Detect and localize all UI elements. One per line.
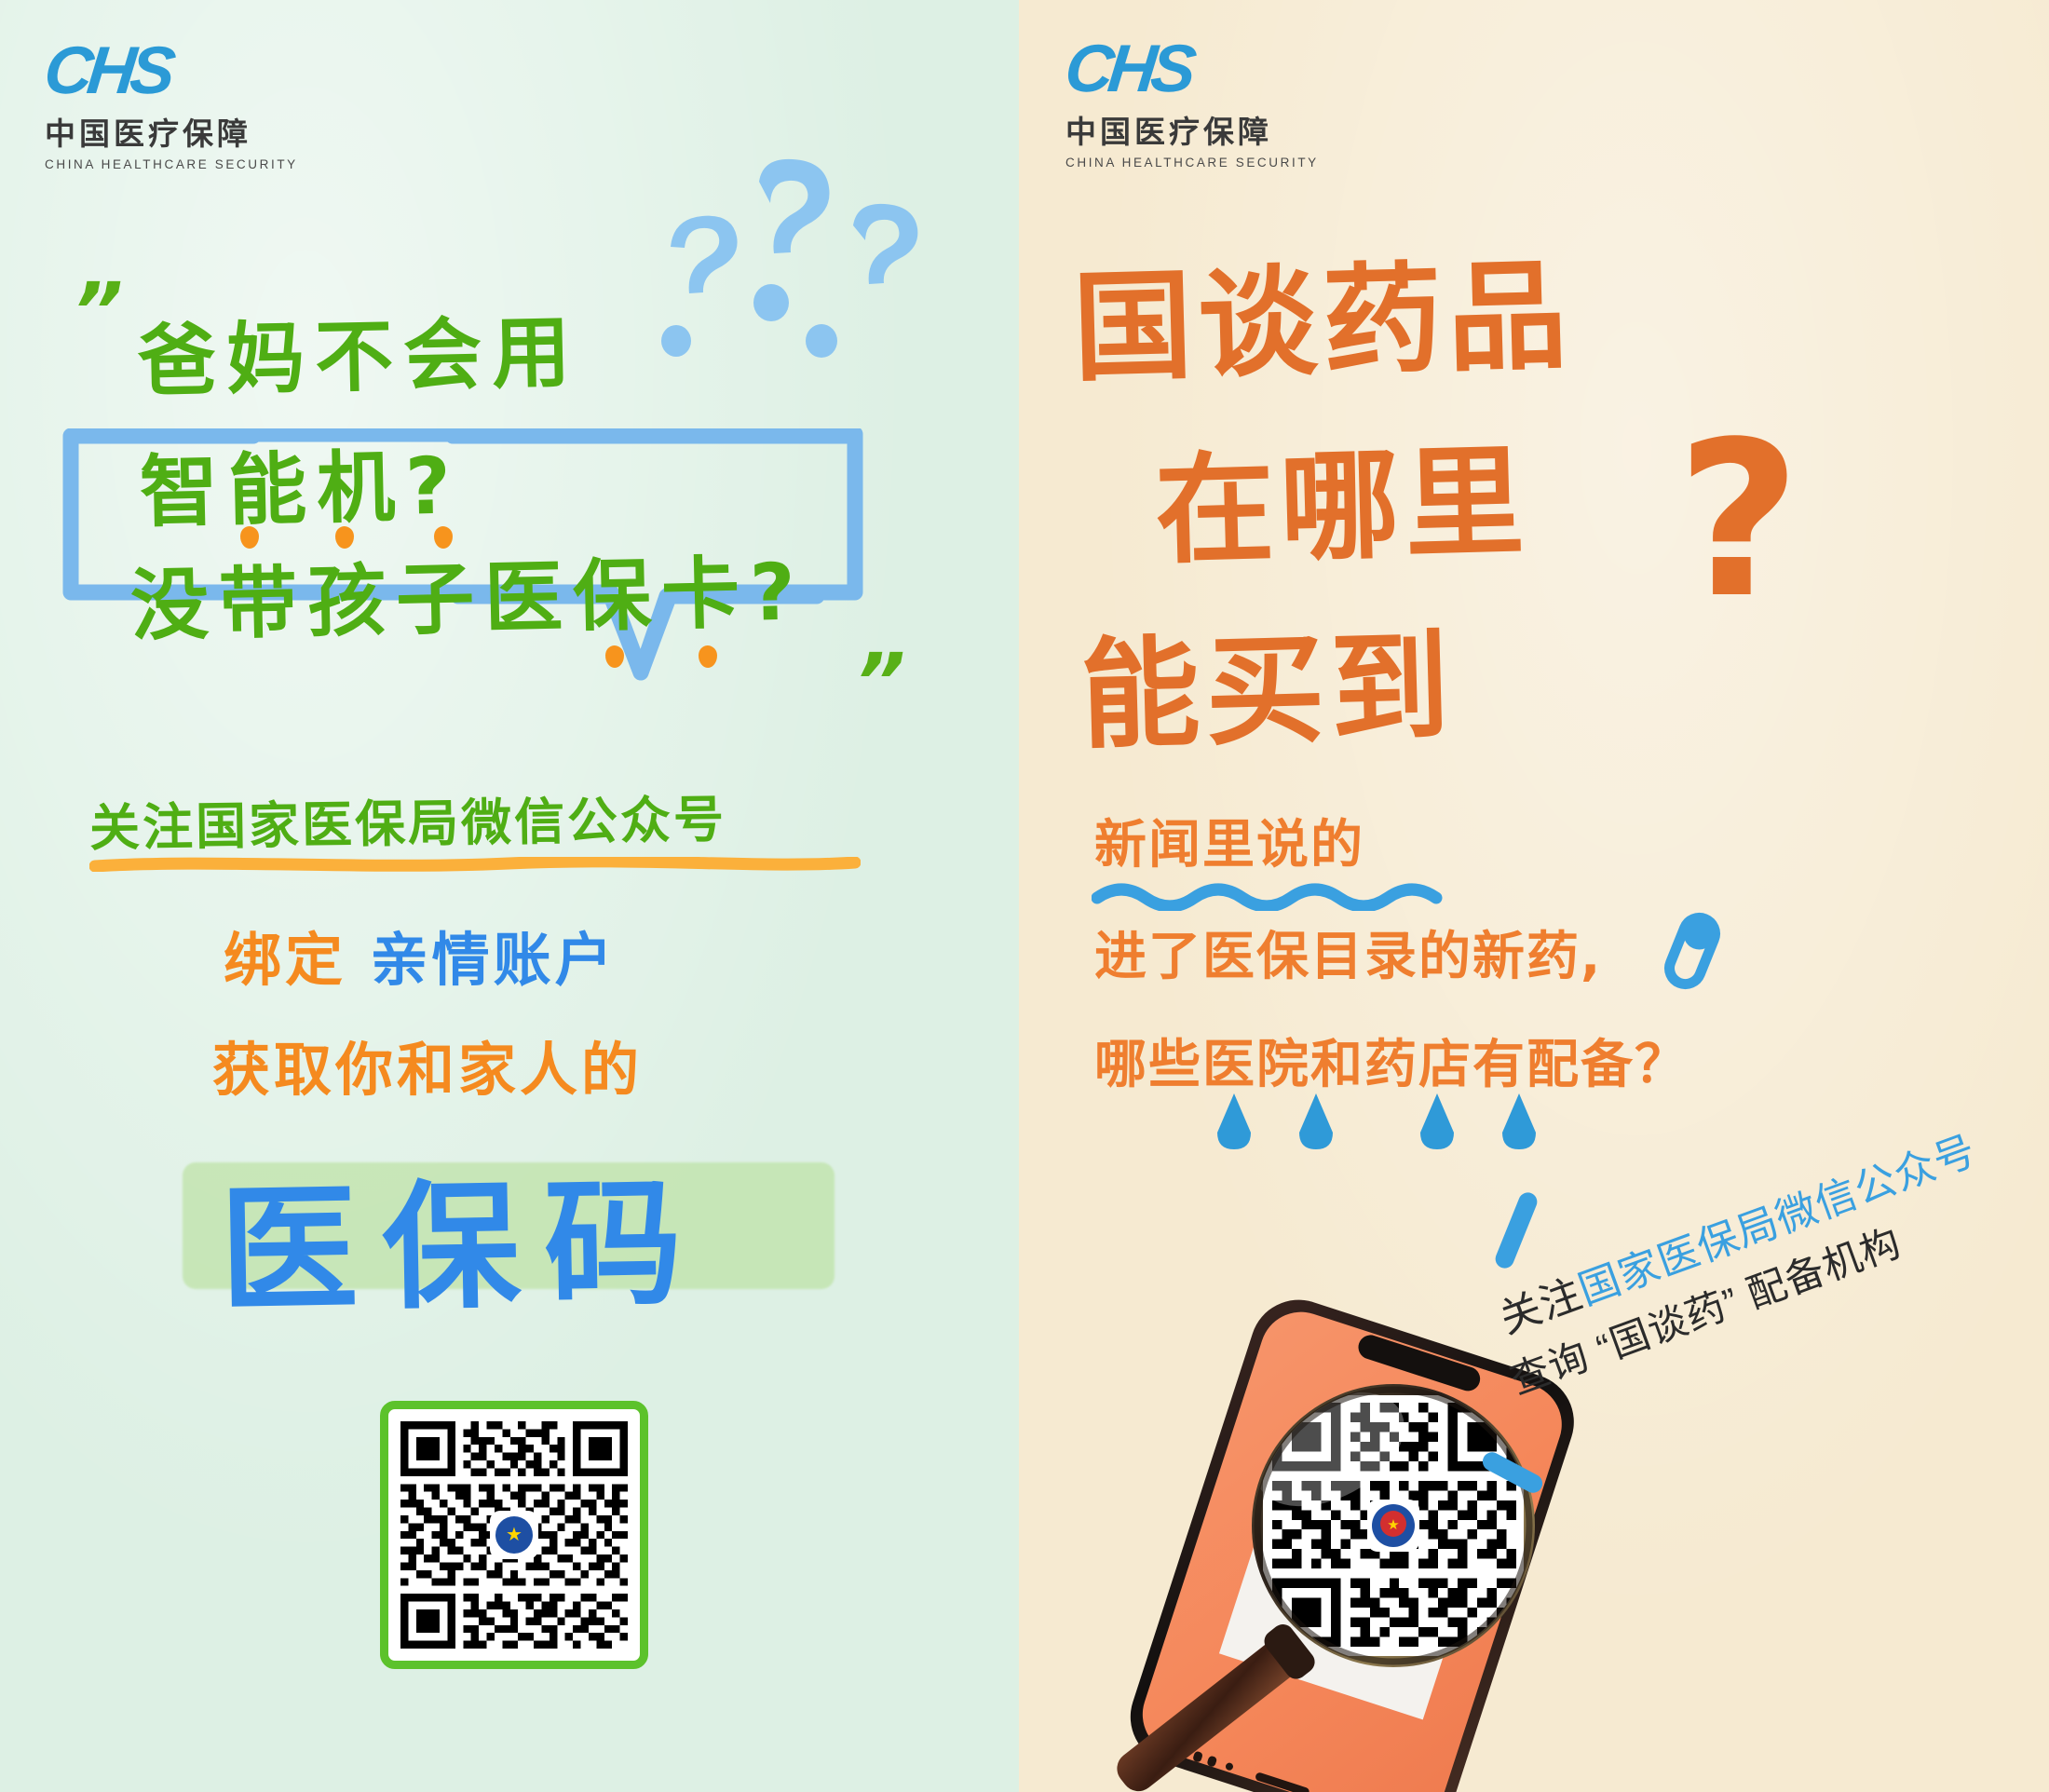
left-headline-line-2: 智能机? [139, 423, 462, 542]
orange-underline-decor [89, 857, 861, 872]
left-bind-blue-text: 亲情账户 [371, 926, 617, 994]
chs-logo-cn-name: 中国医疗保障 [45, 109, 298, 154]
qr-emblem-icon: ★ [492, 1513, 536, 1557]
left-poster: CHS 中国医疗保障 CHINA HEALTHCARE SECURITY ” 爸… [0, 0, 1019, 1792]
right-headline-line-2: 在哪里 [1153, 405, 1532, 587]
chs-logo-en-name: CHINA HEALTHCARE SECURITY [1065, 156, 1319, 170]
pill-icon [1660, 911, 1725, 991]
left-big-word: 医保码 [218, 1130, 708, 1338]
left-cta-line: 关注国家医保局微信公众号 [88, 778, 726, 861]
chs-logo-mark: CHS [1062, 37, 1322, 101]
chs-logo-right: CHS 中国医疗保障 CHINA HEALTHCARE SECURITY [1065, 37, 1319, 170]
chs-logo-en-name: CHINA HEALTHCARE SECURITY [45, 157, 298, 171]
question-marks-decor-icon [643, 158, 941, 428]
chs-logo-mark: CHS [41, 39, 301, 102]
right-body-line-2: 进了医保目录的新药, [1094, 915, 1602, 990]
national-emblem-icon: ★ [495, 1516, 533, 1554]
wavy-underline-decor [1092, 879, 1483, 911]
right-headline-line-1: 国谈药品 [1071, 219, 1575, 404]
left-qr-code[interactable]: ★ [380, 1401, 648, 1669]
right-headline-line-3: 能买到 [1079, 590, 1458, 771]
chs-logo-left: CHS 中国医疗保障 CHINA HEALTHCARE SECURITY [45, 39, 298, 171]
svg-text:★: ★ [1387, 1516, 1399, 1533]
left-bind-orange-text: 绑定 [224, 926, 346, 994]
left-headline-line-3: 没带孩子医保卡? [129, 529, 807, 656]
quote-close: ” [855, 643, 905, 721]
left-qr-pattern: ★ [400, 1421, 628, 1649]
poster-pair: CHS 中国医疗保障 CHINA HEALTHCARE SECURITY ” 爸… [0, 0, 2049, 1792]
quote-open: ” [73, 272, 123, 350]
right-headline-question-mark: ? [1676, 436, 1800, 607]
left-bind-row: 绑定 亲情账户 [224, 913, 617, 997]
drop-marks-decor [1206, 1090, 1597, 1155]
left-headline-line-1: 爸妈不会用 [137, 290, 581, 412]
chs-logo-cn-name: 中国医疗保障 [1065, 107, 1319, 152]
right-body-line-3: 哪些医院和药店有配备？ [1094, 1023, 1689, 1098]
right-body-line-1: 新闻里说的 [1094, 803, 1364, 878]
left-get-line: 获取你和家人的 [212, 1023, 643, 1106]
